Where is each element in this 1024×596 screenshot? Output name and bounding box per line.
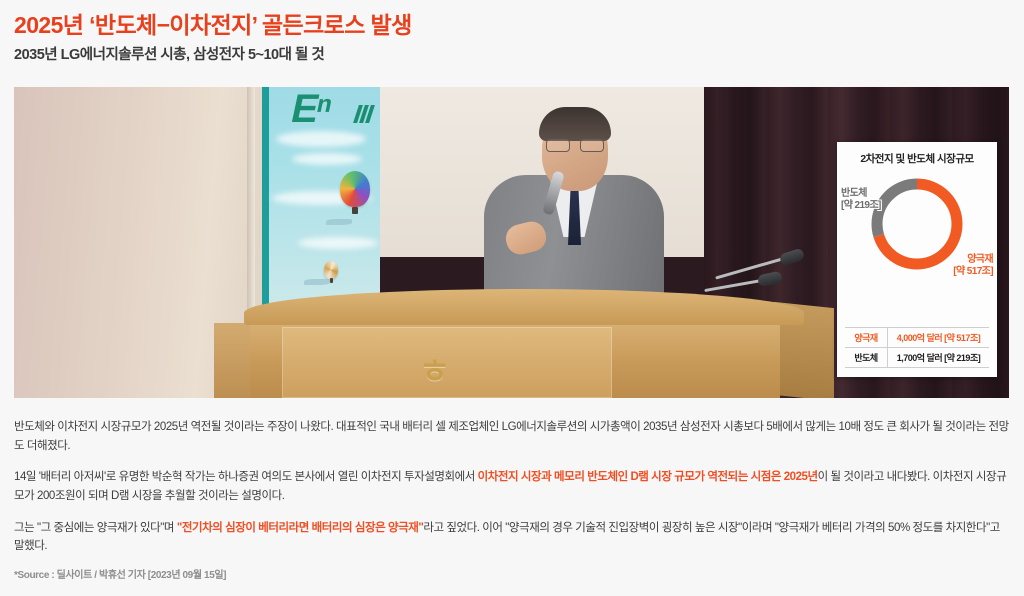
banner-logo-text: Eⁿ (288, 89, 333, 129)
airplane-icon (326, 219, 352, 225)
chart-data-table: 양극재 4,000억 달러 [약 517조] 반도체 1,700억 달러 [약 … (845, 327, 989, 368)
cloud-shape (276, 131, 366, 147)
glasses-icon (546, 139, 604, 151)
logo-bars-icon (354, 105, 372, 128)
hot-air-balloon-icon (340, 171, 370, 207)
body-text: 반도체와 이차전지 시장규모가 2025년 역전될 것이라는 주장이 나왔다. … (14, 421, 1009, 452)
podium-emblem: ㅎ (419, 355, 479, 397)
cloud-shape (298, 237, 378, 249)
source-credit: *Source : 딜사이트 / 박휴선 기자 [2023년 09월 15일] (14, 566, 226, 581)
chart-label-cathode-value: [약 517조] (953, 266, 993, 277)
hot-air-balloon-icon (324, 261, 338, 279)
chart-label-semiconductor: 반도체 [약 219조] (841, 188, 881, 211)
highlighted-text: "전기차의 심장이 베터리라면 배터리의 심장은 양극재" (177, 522, 424, 534)
cloud-shape (292, 153, 362, 165)
page-subtitle: 2035년 LG에너지솔루션 시총, 삼성전자 5~10대 될 것 (14, 43, 1024, 64)
airplane-icon (304, 279, 330, 285)
body-text: 그는 "그 중심에는 양극재가 있다"며 (14, 522, 177, 534)
table-cell-key: 양극재 (845, 328, 888, 348)
podium-left-side (214, 323, 254, 398)
chart-label-cathode: 양극재 [약 517조] (953, 254, 993, 277)
chart-label-semiconductor-value: [약 219조] (841, 200, 881, 211)
highlighted-text: 이차전지 시장과 메모리 반도체인 D램 시장 규모가 역전되는 시점은 202… (478, 471, 818, 483)
article-paragraph: 14일 '배터리 아저씨'로 유명한 박순혁 작가는 하나증권 여의도 본사에서… (14, 468, 1010, 505)
photo-scene: Eⁿ (14, 87, 1009, 398)
article-paragraph: 그는 "그 중심에는 양극재가 있다"며 "전기차의 심장이 베터리라면 배터리… (14, 519, 1010, 556)
table-cell-key: 반도체 (845, 348, 888, 368)
header: 2025년 ‘반도체−이차전지’ 골든크로스 발생 2035년 LG에너지솔루션… (0, 0, 1024, 64)
article-body: 반도체와 이차전지 시장규모가 2025년 역전될 것이라는 주장이 나왔다. … (14, 418, 1010, 569)
table-cell-value: 4,000억 달러 [약 517조] (888, 328, 990, 348)
chart-label-semiconductor-name: 반도체 (841, 188, 867, 199)
banner-logo: Eⁿ (292, 89, 370, 133)
table-cell-value: 1,700억 달러 [약 219조] (888, 348, 990, 368)
chart-label-cathode-name: 양극재 (967, 254, 993, 265)
speaker-hair (539, 107, 611, 141)
chart-title: 2차전지 및 반도체 시장규모 (837, 142, 997, 168)
article-card: 2025년 ‘반도체−이차전지’ 골든크로스 발생 2035년 LG에너지솔루션… (0, 0, 1024, 596)
table-row: 반도체 1,700억 달러 [약 219조] (845, 348, 989, 368)
page-title: 2025년 ‘반도체−이차전지’ 골든크로스 발생 (14, 12, 1024, 38)
article-paragraph: 반도체와 이차전지 시장규모가 2025년 역전될 것이라는 주장이 나왔다. … (14, 418, 1010, 455)
article-photo: Eⁿ (14, 87, 1009, 398)
donut-chart: 반도체 [약 219조] 양극재 [약 517조] (837, 168, 997, 296)
speaker-figure (484, 105, 664, 305)
market-size-chart-card: 2차전지 및 반도체 시장규모 반도체 [약 219조] 양극재 [ (837, 142, 997, 377)
body-text: 14일 '배터리 아저씨'로 유명한 박순혁 작가는 하나증권 여의도 본사에서… (14, 471, 478, 483)
table-row: 양극재 4,000억 달러 [약 517조] (845, 328, 989, 348)
